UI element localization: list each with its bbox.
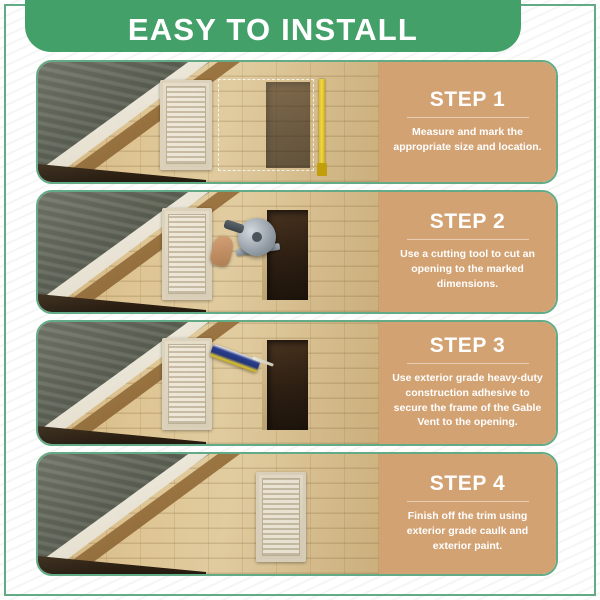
step-title-4: STEP 4: [430, 472, 506, 495]
step-photo-4: [38, 454, 379, 574]
step-divider-2: [407, 239, 529, 240]
step-pane-3: STEP 3 Use exterior grade heavy-duty con…: [379, 322, 556, 444]
step-card-4: STEP 4 Finish off the trim using exterio…: [36, 452, 558, 576]
infographic-poster: EASY TO INSTALL STEP 1: [0, 0, 600, 600]
step-title-3: STEP 3: [430, 334, 506, 357]
step-description-3: Use exterior grade heavy-duty constructi…: [391, 371, 544, 431]
louvered-vent-icon: [162, 338, 212, 430]
shadow-panel-icon: [266, 82, 310, 168]
tape-measure-icon: [319, 79, 325, 171]
step-description-4: Finish off the trim using exterior grade…: [391, 509, 544, 554]
step-card-2: STEP 2 Use a cutting tool to cut an open…: [36, 190, 558, 314]
step-description-2: Use a cutting tool to cut an opening to …: [391, 247, 544, 292]
step-title-1: STEP 1: [430, 88, 506, 111]
page-title: EASY TO INSTALL: [128, 14, 418, 45]
header-banner: EASY TO INSTALL: [25, 0, 521, 52]
vent-slats: [168, 344, 206, 424]
installed-vent-icon: [256, 472, 306, 562]
step-photo-3: [38, 322, 379, 444]
saw-hub-icon: [252, 232, 262, 242]
cut-opening-edge-icon: [262, 340, 267, 430]
step-divider-4: [407, 501, 529, 502]
step-photo-2: [38, 192, 379, 312]
step-pane-4: STEP 4 Finish off the trim using exterio…: [379, 454, 556, 574]
step-divider-3: [407, 363, 529, 364]
louvered-vent-icon: [162, 208, 212, 300]
step-photo-1: [38, 62, 379, 182]
vent-slats: [168, 214, 206, 294]
vent-slats: [166, 86, 206, 164]
louvered-vent-icon: [160, 80, 212, 170]
step-pane-2: STEP 2 Use a cutting tool to cut an open…: [379, 192, 556, 312]
step-card-3: STEP 3 Use exterior grade heavy-duty con…: [36, 320, 558, 446]
step-description-1: Measure and mark the appropriate size an…: [391, 125, 544, 155]
step-pane-1: STEP 1 Measure and mark the appropriate …: [379, 62, 556, 182]
cut-opening-icon: [266, 340, 308, 430]
step-title-2: STEP 2: [430, 210, 506, 233]
step-card-1: STEP 1 Measure and mark the appropriate …: [36, 60, 558, 184]
cut-opening-icon: [266, 210, 308, 300]
step-divider-1: [407, 117, 529, 118]
vent-slats: [262, 478, 300, 556]
steps-list: STEP 1 Measure and mark the appropriate …: [36, 60, 558, 582]
tape-measure-end-icon: [317, 163, 327, 176]
